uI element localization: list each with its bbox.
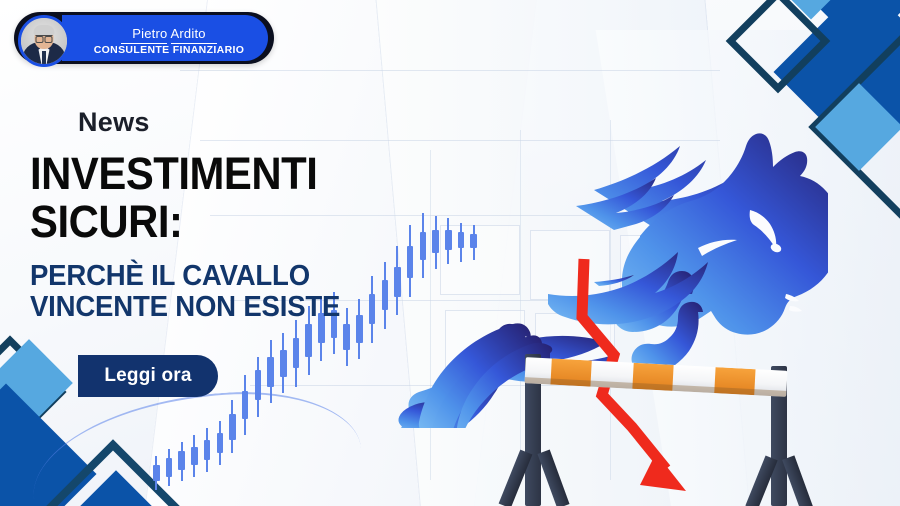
- badge-role: CONSULENTE FINANZIARIO: [70, 44, 268, 57]
- presenter-badge[interactable]: Pietro Ardito CONSULENTE FINANZIARIO: [14, 12, 274, 64]
- avatar: [18, 15, 70, 67]
- read-now-button[interactable]: Leggi ora: [78, 355, 218, 397]
- headline-line-2: SICURI:: [30, 198, 421, 246]
- subheadline-line-2: VINCENTE NON ESISTE: [30, 292, 439, 323]
- building-line: [180, 70, 720, 71]
- hurdle-obstacle-icon: [505, 340, 805, 506]
- headline-line-1: INVESTIMENTI: [30, 148, 317, 199]
- eyebrow-label: News: [78, 107, 150, 138]
- hurdle-foot: [537, 450, 569, 506]
- promo-banner: Pietro Ardito CONSULENTE FINANZIARIO New…: [0, 0, 900, 506]
- hurdle-rail: [524, 357, 787, 397]
- subheadline-line-1: PERCHÈ IL CAVALLO: [30, 260, 310, 292]
- page-subtitle: PERCHÈ IL CAVALLO VINCENTE NON ESISTE: [30, 261, 439, 323]
- page-title: INVESTIMENTI SICURI:: [30, 150, 421, 246]
- badge-name: Pietro Ardito: [70, 26, 268, 42]
